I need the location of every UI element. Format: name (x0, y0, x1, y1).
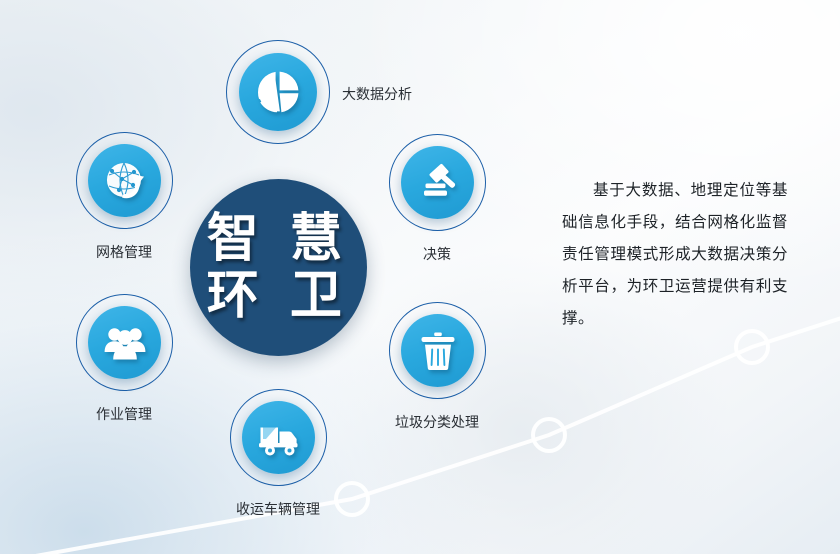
node-disc[interactable] (401, 314, 474, 387)
node-label-decision: 决策 (347, 244, 527, 264)
infographic-canvas: 智 慧 环 卫 大数据分析 (0, 0, 840, 554)
node-label-big-data-analysis: 大数据分析 (342, 84, 412, 104)
node-disc[interactable] (242, 401, 315, 474)
node-label-waste-sorting: 垃圾分类处理 (347, 412, 527, 432)
node-disc[interactable] (88, 144, 161, 217)
node-disc[interactable] (401, 146, 474, 219)
node-label-grid-management: 网格管理 (34, 242, 214, 262)
globe-network-icon (103, 159, 147, 203)
description-paragraph: 基于大数据、地理定位等基础信息化手段，结合网格化监督责任管理模式形成大数据决策分… (562, 175, 788, 335)
people-group-icon (103, 321, 147, 365)
node-disc[interactable] (239, 53, 317, 131)
hub-title-line1: 智 慧 (207, 212, 350, 266)
gavel-icon (416, 161, 460, 205)
node-label-operation-management: 作业管理 (34, 404, 214, 424)
decor-node-3 (736, 331, 768, 363)
garbage-truck-icon (256, 415, 302, 461)
pie-chart-icon (255, 69, 301, 115)
node-disc[interactable] (88, 306, 161, 379)
trash-bin-icon (417, 330, 459, 372)
node-label-collection-vehicle-management: 收运车辆管理 (188, 499, 368, 519)
hub-title-line2: 环 卫 (207, 269, 350, 323)
smart-sanitation-hub[interactable]: 智 慧 环 卫 (190, 179, 367, 356)
decor-node-2 (533, 419, 565, 451)
